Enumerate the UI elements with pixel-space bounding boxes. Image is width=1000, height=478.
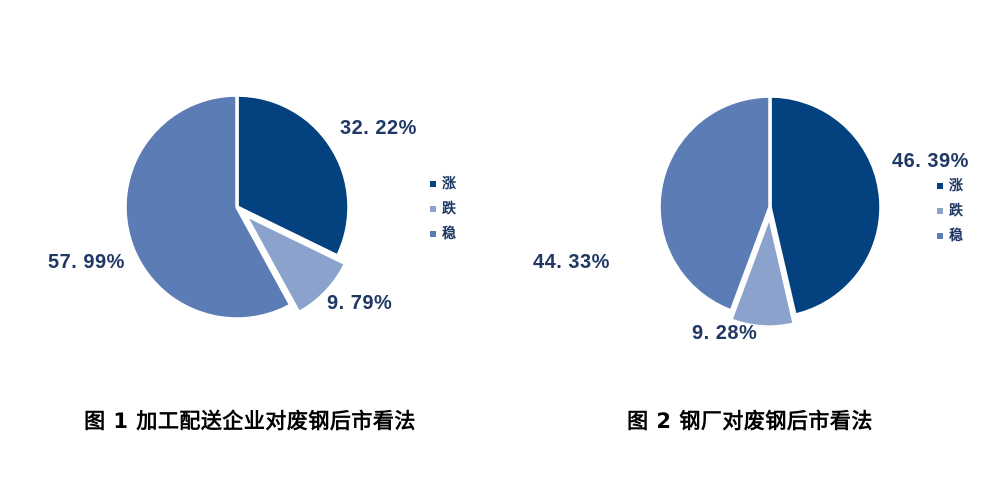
- legend-label-fall: 跌: [949, 204, 963, 218]
- legend-label-rise: 涨: [442, 177, 456, 191]
- pie-1-label-stable: 57. 99%: [48, 251, 125, 274]
- legend-swatch-stable-icon: [937, 233, 943, 239]
- figure-1: 32. 22% 9. 79% 57. 99% 涨 跌 稳 图 1 加工配送企业对…: [0, 0, 500, 478]
- figure-1-caption: 图 1 加工配送企业对废钢后市看法: [0, 405, 500, 435]
- legend-item-stable[interactable]: 稳: [430, 226, 456, 242]
- legend-label-stable: 稳: [442, 227, 456, 241]
- pie-chart-1: 32. 22% 9. 79% 57. 99% 涨 跌 稳: [0, 0, 500, 380]
- pie-1-slice-group: [125, 95, 349, 319]
- pie-chart-2: 46. 39% 9. 28% 44. 33% 涨 跌 稳: [500, 0, 1000, 380]
- pie-2-label-rise: 46. 39%: [892, 150, 969, 173]
- legend-swatch-fall-icon: [430, 206, 436, 212]
- legend-label-rise: 涨: [949, 179, 963, 193]
- figure-2: 46. 39% 9. 28% 44. 33% 涨 跌 稳 图 2 钢厂对废钢后市…: [500, 0, 1000, 478]
- figure-2-caption: 图 2 钢厂对废钢后市看法: [500, 405, 1000, 435]
- pie-slice-涨[interactable]: [770, 96, 881, 315]
- legend-swatch-rise-icon: [430, 181, 436, 187]
- pie-chart-1-svg: [0, 0, 500, 380]
- pie-2-label-fall: 9. 28%: [692, 322, 757, 345]
- legend-item-rise[interactable]: 涨: [430, 176, 456, 192]
- legend-swatch-rise-icon: [937, 183, 943, 189]
- pie-1-label-rise: 32. 22%: [340, 117, 417, 140]
- legend-swatch-fall-icon: [937, 208, 943, 214]
- legend-item-stable[interactable]: 稳: [937, 228, 963, 244]
- pie-2-label-stable: 44. 33%: [533, 251, 610, 274]
- pie-1-legend: 涨 跌 稳: [430, 176, 456, 242]
- legend-swatch-stable-icon: [430, 231, 436, 237]
- legend-item-fall[interactable]: 跌: [430, 201, 456, 217]
- legend-label-fall: 跌: [442, 202, 456, 216]
- pie-2-legend: 涨 跌 稳: [937, 178, 963, 244]
- legend-item-fall[interactable]: 跌: [937, 203, 963, 219]
- pie-1-label-fall: 9. 79%: [327, 292, 392, 315]
- pie-2-slice-group: [659, 96, 881, 327]
- legend-label-stable: 稳: [949, 229, 963, 243]
- legend-item-rise[interactable]: 涨: [937, 178, 963, 194]
- figure-pair: 32. 22% 9. 79% 57. 99% 涨 跌 稳 图 1 加工配送企业对…: [0, 0, 1000, 478]
